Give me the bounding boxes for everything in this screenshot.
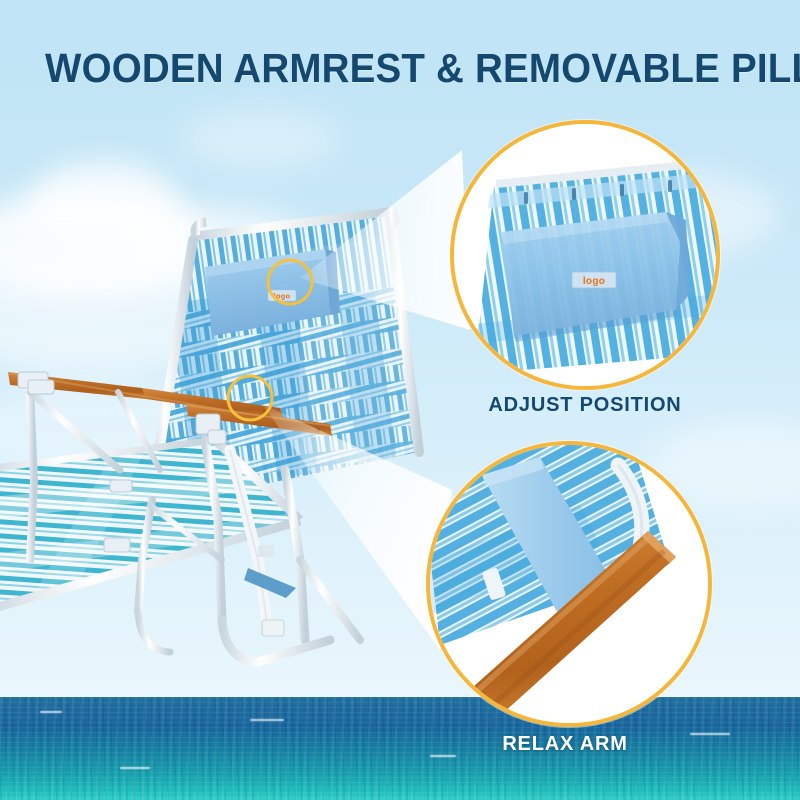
callout-adjust-position-photo: logo bbox=[454, 124, 716, 386]
strap-buckle bbox=[262, 620, 284, 636]
callout-relax-arm-photo bbox=[430, 445, 708, 723]
strap-foot-pad bbox=[244, 568, 296, 598]
callout-relax-arm bbox=[426, 441, 712, 727]
svg-text:logo: logo bbox=[583, 276, 605, 287]
callout-adjust-position: logo bbox=[450, 120, 720, 390]
callout-caption-adjust-position: ADJUST POSITION bbox=[445, 394, 725, 417]
callout-caption-relax-arm: RELAX ARM bbox=[425, 733, 705, 756]
product-feature-image: WOODEN ARMREST & REMOVABLE PILLOW bbox=[0, 0, 800, 800]
